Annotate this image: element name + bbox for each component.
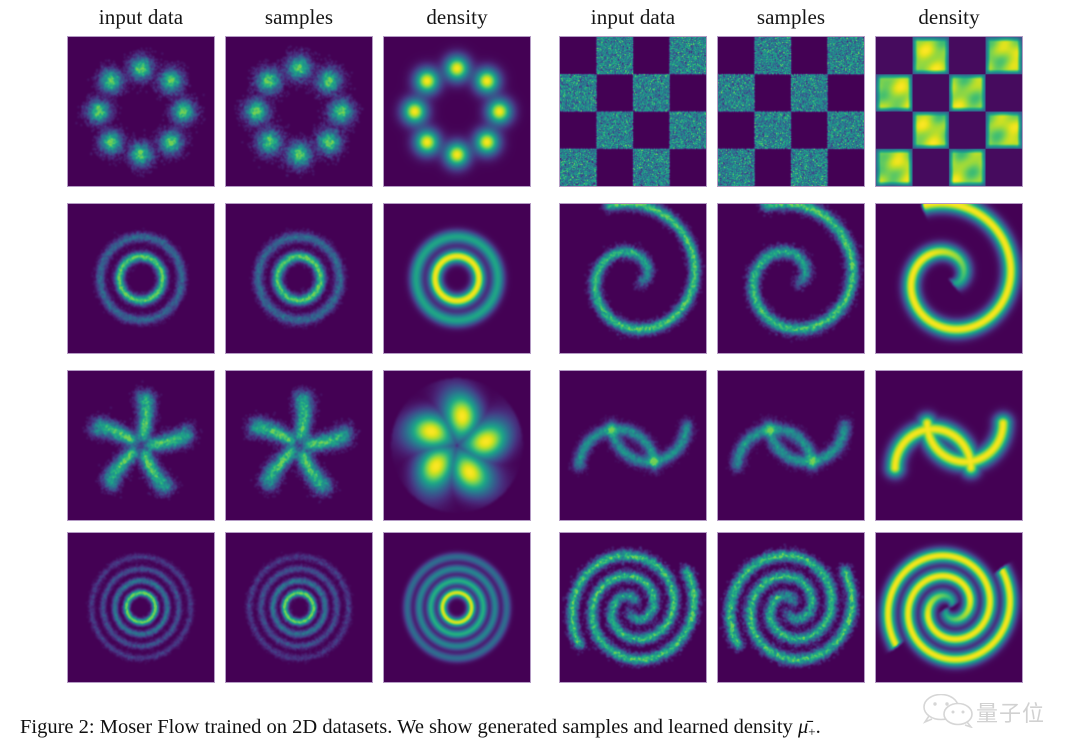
panel-1spiral-density-r1c5	[875, 203, 1023, 354]
panel-8gaussians-density-r0c2	[383, 36, 531, 187]
panel-checkerboard-scatter-r0c4	[717, 36, 865, 187]
panel-2moons-scatter-r2c3	[559, 370, 707, 521]
panel-pinwheel-density-r2c2	[383, 370, 531, 521]
figure-caption: Figure 2: Moser Flow trained on 2D datas…	[20, 716, 1066, 740]
column-header-density-right: density	[869, 5, 1029, 30]
canvas-2spirals-scatter	[718, 533, 864, 682]
panel-2moons-scatter-r2c4	[717, 370, 865, 521]
canvas-1spiral-scatter	[718, 204, 864, 353]
canvas-checkerboard-scatter	[560, 37, 706, 186]
canvas-8gaussians-density	[384, 37, 530, 186]
canvas-2rings-density	[384, 204, 530, 353]
column-header-density-left: density	[377, 5, 537, 30]
canvas-2moons-scatter	[560, 371, 706, 520]
panel-8gaussians-scatter-r0c1	[225, 36, 373, 187]
caption-mu-symbol: μ̄	[798, 716, 808, 738]
canvas-pinwheel-scatter	[226, 371, 372, 520]
canvas-4rings-density	[384, 533, 530, 682]
panel-2moons-density-r2c5	[875, 370, 1023, 521]
canvas-8gaussians-scatter	[226, 37, 372, 186]
panel-2spirals-scatter-r3c4	[717, 532, 865, 683]
caption-subscript: +	[808, 724, 815, 739]
panel-pinwheel-scatter-r2c0	[67, 370, 215, 521]
caption-period: .	[816, 716, 821, 738]
canvas-2spirals-density	[876, 533, 1022, 682]
canvas-4rings-scatter	[226, 533, 372, 682]
panel-4rings-density-r3c2	[383, 532, 531, 683]
column-header-samples-right: samples	[711, 5, 871, 30]
canvas-1spiral-scatter	[560, 204, 706, 353]
canvas-checkerboard-density	[876, 37, 1022, 186]
panel-pinwheel-scatter-r2c1	[225, 370, 373, 521]
panel-4rings-scatter-r3c1	[225, 532, 373, 683]
panel-2spirals-scatter-r3c3	[559, 532, 707, 683]
panel-2spirals-density-r3c5	[875, 532, 1023, 683]
panel-checkerboard-density-r0c5	[875, 36, 1023, 187]
canvas-1spiral-density	[876, 204, 1022, 353]
canvas-2spirals-scatter	[560, 533, 706, 682]
canvas-pinwheel-density	[384, 371, 530, 520]
canvas-2rings-scatter	[226, 204, 372, 353]
canvas-pinwheel-scatter	[68, 371, 214, 520]
panel-2rings-scatter-r1c0	[67, 203, 215, 354]
canvas-checkerboard-scatter	[718, 37, 864, 186]
canvas-2rings-scatter	[68, 204, 214, 353]
panel-1spiral-scatter-r1c3	[559, 203, 707, 354]
panel-4rings-scatter-r3c0	[67, 532, 215, 683]
column-header-samples-left: samples	[219, 5, 379, 30]
column-header-input-data-left: input data	[61, 5, 221, 30]
canvas-4rings-scatter	[68, 533, 214, 682]
panel-checkerboard-scatter-r0c3	[559, 36, 707, 187]
column-header-input-data-right: input data	[553, 5, 713, 30]
canvas-2moons-scatter	[718, 371, 864, 520]
panel-1spiral-scatter-r1c4	[717, 203, 865, 354]
figure-container: input data samples density input data sa…	[0, 0, 1080, 754]
canvas-2moons-density	[876, 371, 1022, 520]
panel-2rings-scatter-r1c1	[225, 203, 373, 354]
panel-8gaussians-scatter-r0c0	[67, 36, 215, 187]
caption-text: Figure 2: Moser Flow trained on 2D datas…	[20, 716, 798, 738]
panel-2rings-density-r1c2	[383, 203, 531, 354]
canvas-8gaussians-scatter	[68, 37, 214, 186]
